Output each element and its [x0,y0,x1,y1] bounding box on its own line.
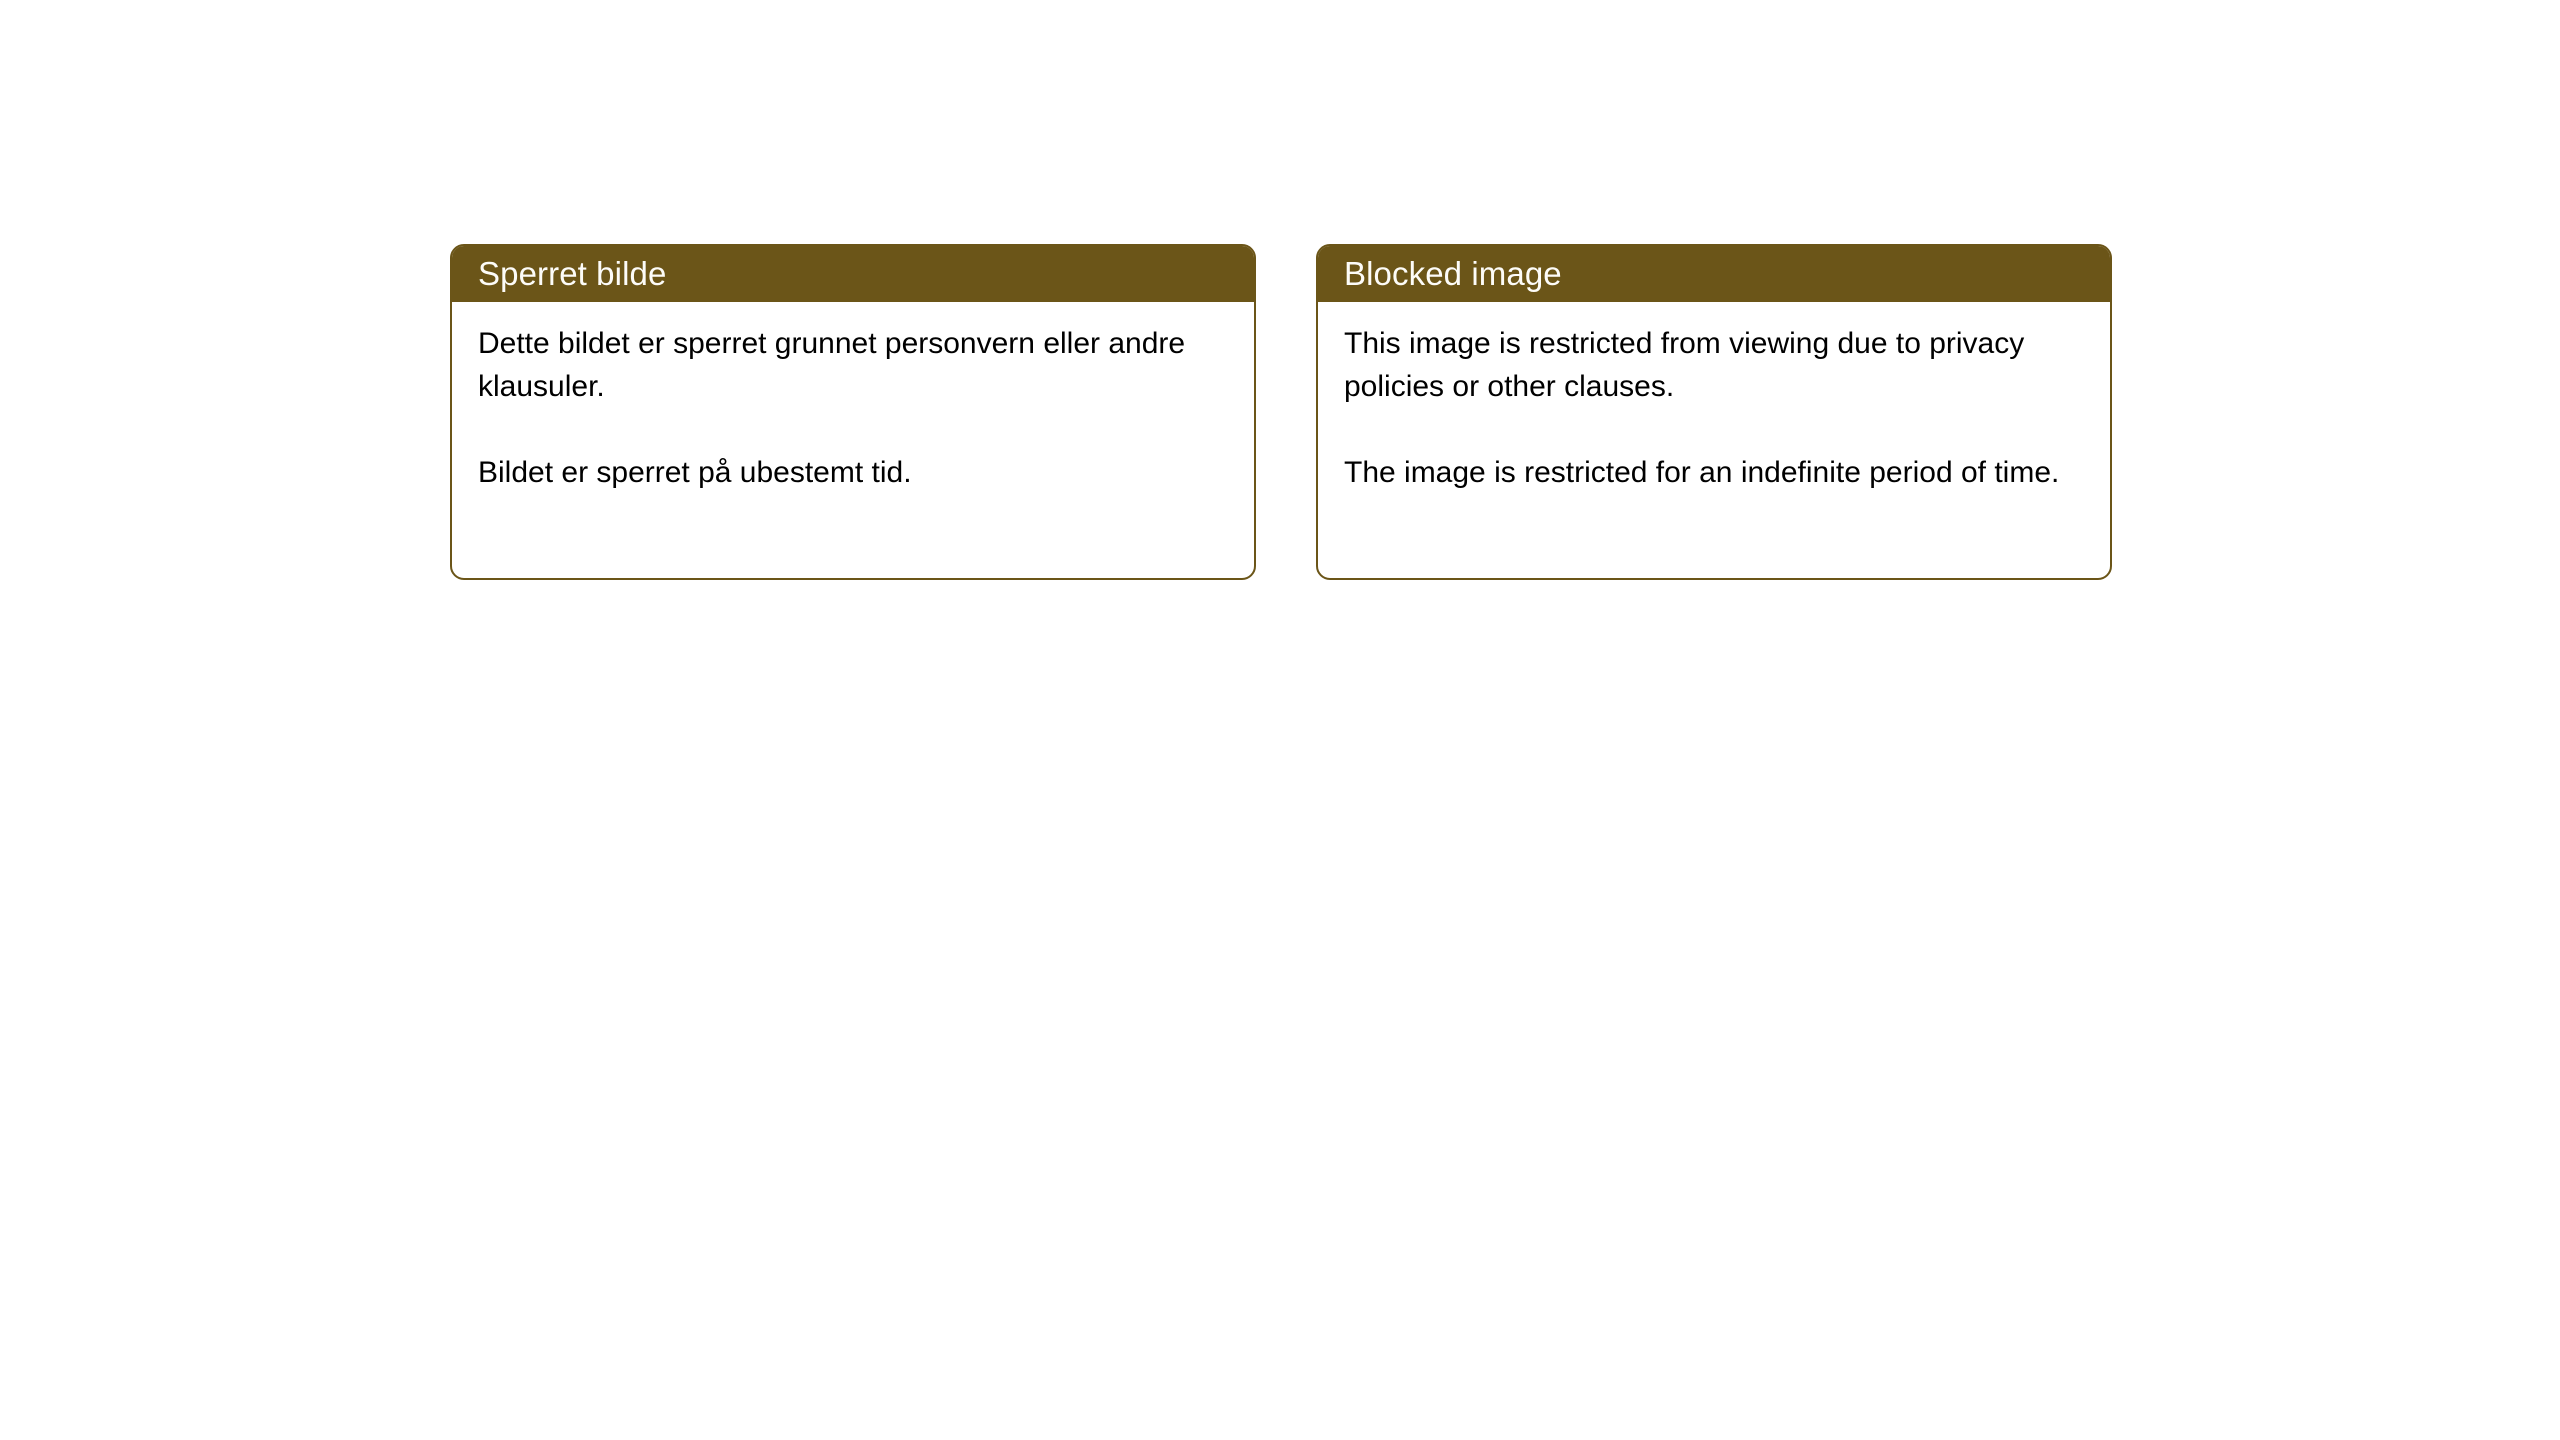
card-paragraph-reason-english: This image is restricted from viewing du… [1344,322,2088,408]
card-paragraph-duration-english: The image is restricted for an indefinit… [1344,451,2088,494]
blocked-image-notice-card-english: Blocked image This image is restricted f… [1316,244,2112,580]
card-header-norwegian: Sperret bilde [452,246,1254,302]
notice-cards-container: Sperret bilde Dette bildet er sperret gr… [0,0,2560,1440]
card-paragraph-reason-norwegian: Dette bildet er sperret grunnet personve… [478,322,1232,408]
card-paragraph-duration-norwegian: Bildet er sperret på ubestemt tid. [478,451,1232,494]
card-body-english: This image is restricted from viewing du… [1318,302,2110,494]
card-header-english: Blocked image [1318,246,2110,302]
blocked-image-notice-card-norwegian: Sperret bilde Dette bildet er sperret gr… [450,244,1256,580]
card-title-english: Blocked image [1344,254,1562,294]
card-body-norwegian: Dette bildet er sperret grunnet personve… [452,302,1254,494]
card-title-norwegian: Sperret bilde [478,254,666,294]
